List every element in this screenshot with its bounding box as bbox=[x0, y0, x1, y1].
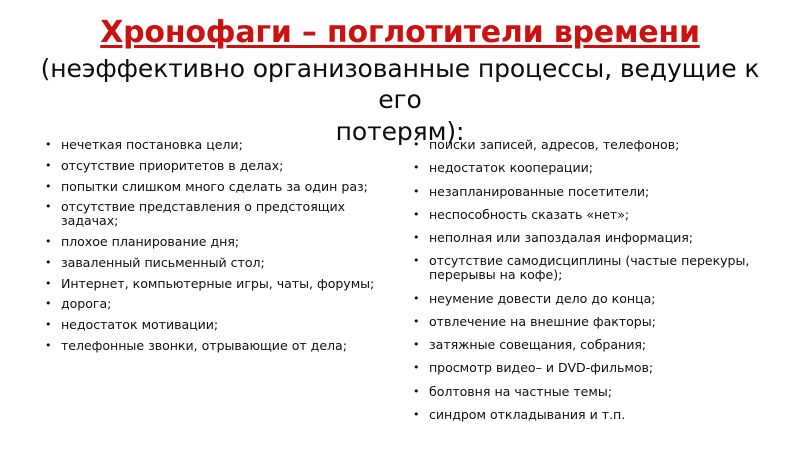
list-item-label: отсутствие представления о предстоящих з… bbox=[61, 199, 345, 228]
list-item-label: попытки слишком много сделать за один ра… bbox=[61, 179, 368, 194]
list-item: Интернет, компьютерные игры, чаты, форум… bbox=[42, 277, 390, 291]
right-column: поиски записей, адресов, телефонов; недо… bbox=[410, 138, 770, 431]
list-item-label: Интернет, компьютерные игры, чаты, форум… bbox=[61, 276, 374, 291]
list-item: плохое планирование дня; bbox=[42, 235, 390, 249]
list-item: недостаток кооперации; bbox=[410, 161, 770, 175]
list-item-label: поиски записей, адресов, телефонов; bbox=[429, 137, 679, 152]
list-item-label: незапланированные посетители; bbox=[429, 184, 649, 199]
left-column: нечеткая постановка цели; отсутствие при… bbox=[42, 138, 390, 360]
list-item-label: телефонные звонки, отрывающие от дела; bbox=[61, 338, 347, 353]
list-item: болтовня на частные темы; bbox=[410, 385, 770, 399]
list-item-label: синдром откладывания и т.п. bbox=[429, 407, 625, 422]
list-item-label: неумение довести дело до конца; bbox=[429, 291, 655, 306]
list-item: заваленный письменный стол; bbox=[42, 256, 390, 270]
list-item: недостаток мотивации; bbox=[42, 318, 390, 332]
list-item: неполная или запоздалая информация; bbox=[410, 231, 770, 245]
list-item-label: затяжные совещания, собрания; bbox=[429, 337, 646, 352]
left-column-list: нечеткая постановка цели; отсутствие при… bbox=[42, 138, 390, 353]
right-column-list: поиски записей, адресов, телефонов; недо… bbox=[410, 138, 770, 422]
list-item: телефонные звонки, отрывающие от дела; bbox=[42, 339, 390, 353]
list-item-label: неспособность сказать «нет»; bbox=[429, 207, 629, 222]
list-item: просмотр видео– и DVD-фильмов; bbox=[410, 361, 770, 375]
slide-subtitle-line-1: (неэффективно организованные процессы, в… bbox=[30, 53, 770, 115]
list-item-label: просмотр видео– и DVD-фильмов; bbox=[429, 360, 653, 375]
list-item-label: неполная или запоздалая информация; bbox=[429, 230, 693, 245]
list-item: поиски записей, адресов, телефонов; bbox=[410, 138, 770, 152]
slide-title: Хронофаги – поглотители времени bbox=[30, 14, 770, 52]
slide-canvas: Хронофаги – поглотители времени (неэффек… bbox=[0, 0, 800, 450]
list-item-label: дорога; bbox=[61, 296, 111, 311]
list-item: неспособность сказать «нет»; bbox=[410, 208, 770, 222]
list-item-label: недостаток мотивации; bbox=[61, 317, 218, 332]
list-item-label: болтовня на частные темы; bbox=[429, 384, 612, 399]
list-item: отсутствие самодисциплины (частые переку… bbox=[410, 254, 770, 282]
list-item: дорога; bbox=[42, 297, 390, 311]
list-item: незапланированные посетители; bbox=[410, 185, 770, 199]
list-item-label: заваленный письменный стол; bbox=[61, 255, 265, 270]
list-item: отвлечение на внешние факторы; bbox=[410, 315, 770, 329]
list-item: попытки слишком много сделать за один ра… bbox=[42, 180, 390, 194]
list-item: отсутствие приоритетов в делах; bbox=[42, 159, 390, 173]
list-item-label: отсутствие приоритетов в делах; bbox=[61, 158, 283, 173]
list-item-label: плохое планирование дня; bbox=[61, 234, 239, 249]
list-item-label: отвлечение на внешние факторы; bbox=[429, 314, 656, 329]
content-columns: нечеткая постановка цели; отсутствие при… bbox=[0, 138, 800, 438]
list-item: синдром откладывания и т.п. bbox=[410, 408, 770, 422]
list-item-label: отсутствие самодисциплины (частые переку… bbox=[429, 253, 749, 282]
list-item: нечеткая постановка цели; bbox=[42, 138, 390, 152]
list-item-label: нечеткая постановка цели; bbox=[61, 137, 243, 152]
slide-heading: Хронофаги – поглотители времени (неэффек… bbox=[30, 14, 770, 147]
list-item: отсутствие представления о предстоящих з… bbox=[42, 200, 390, 228]
list-item: затяжные совещания, собрания; bbox=[410, 338, 770, 352]
list-item-label: недостаток кооперации; bbox=[429, 160, 593, 175]
list-item: неумение довести дело до конца; bbox=[410, 292, 770, 306]
